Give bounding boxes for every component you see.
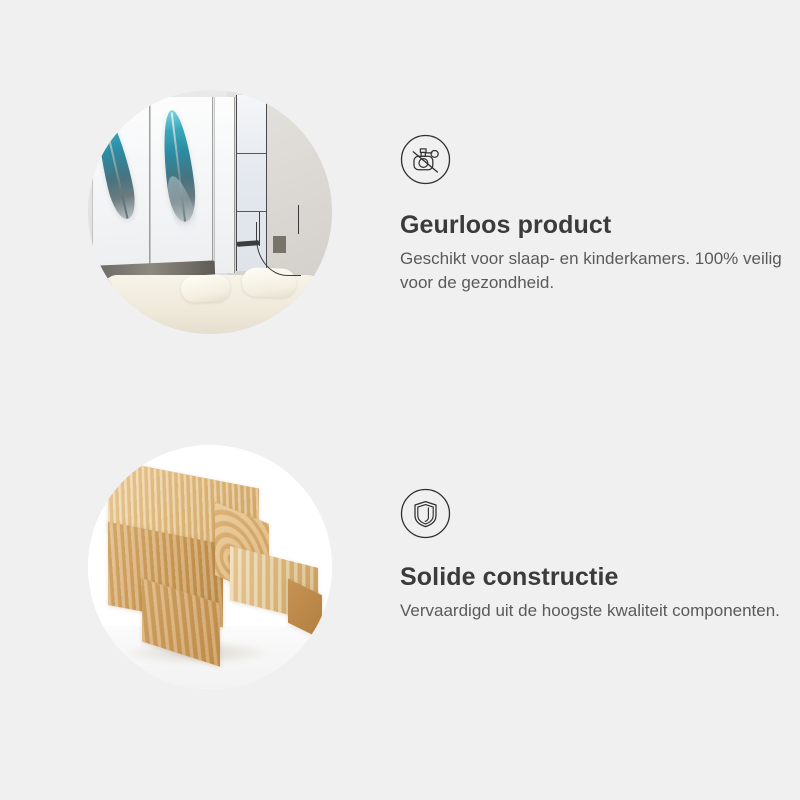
wooden-blocks-photo <box>88 445 332 689</box>
feature-item-geurloos-product: Geurloos product Geschikt voor slaap- en… <box>0 0 800 400</box>
feature-item-solide-constructie: Solide constructie Vervaardigd uit de ho… <box>0 400 800 800</box>
feature-title: Geurloos product <box>400 210 800 240</box>
feature-title: Solide constructie <box>400 562 800 592</box>
feature-media <box>0 400 400 800</box>
art-panel-right <box>215 97 235 273</box>
feature-list: Geurloos product Geschikt voor slaap- en… <box>0 0 800 800</box>
shield-icon <box>400 488 451 539</box>
no-fragrance-icon <box>400 134 451 185</box>
feather-graphic <box>91 110 140 222</box>
feature-text: Solide constructie Vervaardigd uit de ho… <box>400 562 800 623</box>
wooden-blocks-scene <box>88 445 332 689</box>
art-panel-middle <box>151 97 212 273</box>
floor-lamp-rod <box>298 205 300 234</box>
feature-description: Geschikt voor slaap- en kinderkamers. 10… <box>400 247 782 295</box>
bedroom-feather-wall-art-photo <box>88 90 332 334</box>
feature-text: Geurloos product Geschikt voor slaap- en… <box>400 210 800 295</box>
pillow <box>180 274 230 303</box>
art-panel-left <box>93 97 149 273</box>
feature-description: Vervaardigd uit de hoogste kwaliteit com… <box>400 599 782 623</box>
feature-media <box>0 0 400 400</box>
bedroom-scene <box>88 90 332 334</box>
